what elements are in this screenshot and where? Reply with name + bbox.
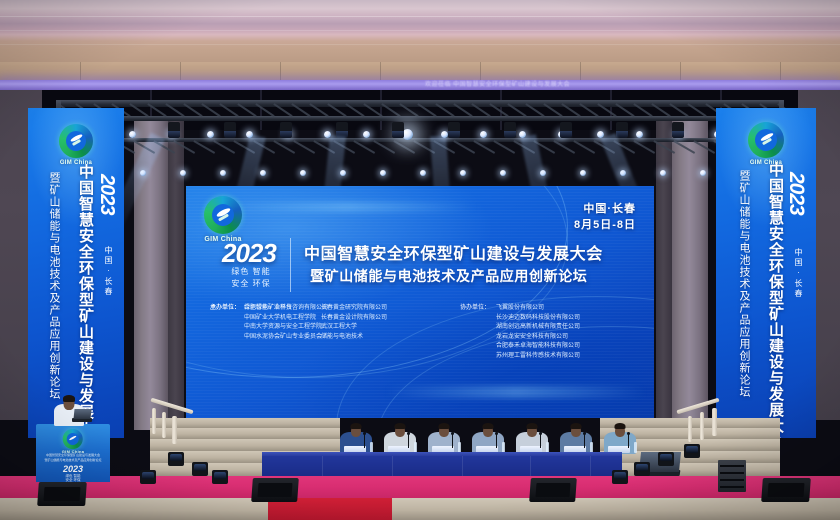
table-microphone xyxy=(628,434,629,448)
par-light xyxy=(129,131,136,138)
stage-moving-head xyxy=(140,470,156,484)
screen-dates: 8月5日-8日 xyxy=(574,216,636,232)
led-scanline xyxy=(186,408,654,409)
moving-head-lens xyxy=(448,131,460,138)
truss-diagonal xyxy=(274,140,296,153)
left-baluster-3 xyxy=(172,416,177,444)
led-scanline xyxy=(186,402,654,403)
stage-moving-head-lens xyxy=(170,454,182,461)
left-vertical-banner: GIM China 2023 中国·长春 中国智慧安全环保型矿山建设与发展大会 … xyxy=(28,108,124,438)
stage-moving-head xyxy=(192,462,208,476)
led-scanline xyxy=(186,399,654,400)
table-microphone xyxy=(540,434,541,448)
moving-head-lens xyxy=(168,131,180,138)
stage-moving-head-lens xyxy=(194,464,206,471)
moving-head-light xyxy=(224,122,236,138)
led-scanline xyxy=(186,387,654,388)
truss-diagonal xyxy=(554,140,576,153)
stage-moving-head-lens xyxy=(636,464,648,471)
screen-slogan-line1: 绿色 智能 xyxy=(220,266,282,277)
main-led-screen: GIM China 中国·长春 8月5日-8日 2023 绿色 智能 安全 环保… xyxy=(186,186,654,418)
stage-moving-head-lens xyxy=(686,446,698,453)
floor-monitor-3 xyxy=(529,478,577,502)
floor-monitor-2 xyxy=(251,478,299,502)
led-scanline xyxy=(186,294,654,295)
truss-diagonal xyxy=(294,140,316,153)
stage-moving-head-lens xyxy=(142,472,154,479)
banner-right-title-sub: 暨矿山储能与电池技术及产品应用创新论坛 xyxy=(736,170,752,398)
par-light xyxy=(300,170,306,176)
moving-head-light xyxy=(672,122,684,138)
speaker-hair xyxy=(439,423,450,429)
led-scanline xyxy=(186,375,654,376)
conference-stage-photo: 欢迎莅临 中国智慧安全环保型矿山建设与发展大会 GIM China xyxy=(0,0,840,520)
podium-logo: GIM China xyxy=(62,429,85,454)
screen-location: 中国·长春 xyxy=(583,200,636,216)
led-scanline xyxy=(186,300,654,301)
led-scanline xyxy=(186,234,654,235)
right-stage-pillar xyxy=(672,120,708,430)
microphone-head xyxy=(495,432,498,435)
screen-title-divider xyxy=(290,238,291,292)
equipment-rack xyxy=(718,460,746,492)
led-strip-text: 欢迎莅临 中国智慧安全环保型矿山建设与发展大会 xyxy=(425,80,570,90)
host-org-3: 中国水泥协会矿山专业委员会 xyxy=(244,333,322,343)
par-light xyxy=(363,131,370,138)
water-bottle xyxy=(634,442,637,453)
podium-year: 2023 xyxy=(63,464,83,474)
floor-monitor-1 xyxy=(37,482,87,506)
truss-diagonal xyxy=(574,140,596,153)
moving-head-lens xyxy=(672,131,684,138)
speaker-hair xyxy=(351,423,362,429)
led-scanline xyxy=(186,414,654,415)
screen-title-sub: 暨矿山储能与电池技术及产品应用创新论坛 xyxy=(310,266,587,286)
led-scanline xyxy=(186,390,654,391)
truss-diagonal xyxy=(474,140,496,153)
moving-head-light xyxy=(560,122,572,138)
right-baluster-1 xyxy=(712,408,717,436)
par-light xyxy=(636,131,643,138)
led-scanline xyxy=(186,393,654,394)
microphone-head xyxy=(407,432,410,435)
microphone-head xyxy=(451,432,454,435)
right-vertical-banner: GIM China 2023 中国·长春 中国智慧安全环保型矿山建设与发展大会 … xyxy=(716,108,816,438)
host-org-b-0: 长春黄金研究院有限公司 xyxy=(321,304,387,314)
stage-moving-head xyxy=(684,444,700,458)
host-org-1: 中国矿业大学机电工程学院 xyxy=(244,314,322,324)
moving-head-light xyxy=(280,122,292,138)
stage-moving-head xyxy=(612,470,628,484)
truss-diagonal xyxy=(214,140,236,153)
truss-diagonal xyxy=(634,140,656,153)
organizer-name: 合肥绿色矿冶科技咨询有限公司 xyxy=(244,304,328,314)
left-baluster-1 xyxy=(152,408,156,434)
moving-head-light xyxy=(504,122,516,138)
stage-moving-head xyxy=(634,462,650,476)
led-scanline xyxy=(186,405,654,406)
lighting-truss-lower xyxy=(92,138,748,142)
led-scanline xyxy=(186,396,654,397)
moving-head-lens xyxy=(280,131,292,138)
moving-head-light xyxy=(392,122,404,138)
par-light xyxy=(207,131,214,138)
host-org-b-1: 长春黄金设计院有限公司 xyxy=(321,314,387,324)
coorg-org-0: 飞翼股份有限公司 xyxy=(496,304,580,314)
hall-ceiling xyxy=(0,0,840,62)
led-scanline xyxy=(186,198,654,199)
podium-line-2: 暨矿山储能与电池技术及产品应用创新论坛 xyxy=(44,458,101,462)
par-light xyxy=(260,170,266,176)
banner-left-logo: GIM China xyxy=(59,124,93,166)
host-org-2: 中南大学资源与安全工程学院 xyxy=(244,323,322,333)
led-scanline xyxy=(186,192,654,193)
coorg-org-2: 湖南创远高新机械有限责任公司 xyxy=(496,323,580,333)
par-light xyxy=(380,170,386,176)
stage-moving-head xyxy=(168,452,184,466)
moving-head-light xyxy=(168,122,180,138)
moving-head-lens xyxy=(392,131,404,138)
stage-moving-head xyxy=(212,470,228,484)
par-light xyxy=(180,170,186,176)
right-baluster-3 xyxy=(688,416,692,442)
par-light xyxy=(660,170,666,176)
par-light xyxy=(580,170,586,176)
stage-moving-head-lens xyxy=(214,472,226,479)
ceiling-cornice xyxy=(0,62,840,80)
stage-moving-head-lens xyxy=(660,454,672,461)
truss-diagonal xyxy=(354,140,376,153)
led-scanline xyxy=(186,381,654,382)
truss-diagonal xyxy=(394,140,416,153)
table-microphone xyxy=(452,434,453,448)
left-pillar-shadow xyxy=(168,120,184,430)
table-microphone xyxy=(364,434,365,448)
led-scanline xyxy=(186,411,654,412)
moving-head-lens xyxy=(560,131,572,138)
host-org-b-2: 武汉工程大学 xyxy=(321,323,387,333)
podium-laptop-screen xyxy=(73,409,91,419)
table-microphone xyxy=(408,434,409,448)
right-pillar-shadow xyxy=(656,120,672,430)
truss-diagonal xyxy=(374,140,396,153)
par-light xyxy=(480,131,487,138)
screen-gim-logo: GIM China xyxy=(204,196,242,243)
truss-diagonal xyxy=(194,140,216,153)
speaker-hair xyxy=(395,423,406,429)
truss-diagonal xyxy=(454,140,476,153)
screen-sponsor-block: 主办单位： 绿色智能矿业平台中国矿业大学机电工程学院中南大学资源与安全工程学院中… xyxy=(186,304,654,374)
screen-slogan-line2: 安全 环保 xyxy=(220,278,282,289)
microphone-head xyxy=(583,432,586,435)
podium-line-1: 中国智慧安全环保型矿山建设与发展大会 xyxy=(46,453,100,457)
microphone-head xyxy=(539,432,542,435)
moving-head-lens xyxy=(504,131,516,138)
table-microphone xyxy=(584,434,585,448)
speaker-hair xyxy=(571,423,582,429)
host-column-2: 长春黄金研究院有限公司长春黄金设计院有限公司武汉工程大学储能与电池技术 xyxy=(321,304,387,342)
led-scanline xyxy=(186,384,654,385)
led-scanline xyxy=(186,195,654,196)
led-scanline xyxy=(186,186,654,187)
par-light xyxy=(500,170,506,176)
floor-monitor-4 xyxy=(761,478,811,502)
banner-left-logo-brand: GIM xyxy=(60,160,72,166)
coorganizer-label: 协办单位： xyxy=(460,304,490,314)
host-org-b-3: 储能与电池技术 xyxy=(321,333,387,343)
coorg-org-3: 龙岩龙安安全科技有限公司 xyxy=(496,333,580,343)
left-baluster-2 xyxy=(162,412,166,438)
microphone-head xyxy=(363,432,366,435)
par-light xyxy=(460,170,466,176)
par-light xyxy=(700,170,706,176)
led-scanline xyxy=(186,297,654,298)
microphone-head xyxy=(627,432,630,435)
led-scanline xyxy=(186,189,654,190)
coorg-org-1: 长沙迪迈数码科技股份有限公司 xyxy=(496,314,580,324)
moving-head-lens xyxy=(616,131,628,138)
truss-diagonal xyxy=(494,140,516,153)
banner-left-year: 2023 xyxy=(95,174,118,215)
banner-right-location: 中国·长春 xyxy=(793,248,804,299)
led-scanline xyxy=(186,291,654,292)
banner-right-title-main: 中国智慧安全环保型矿山建设与发展大会 xyxy=(765,162,786,438)
table-microphone xyxy=(496,434,497,448)
stage-moving-head-lens xyxy=(614,472,626,479)
coorganizer-column: 飞翼股份有限公司长沙迪迈数码科技股份有限公司湖南创远高新机械有限责任公司龙岩龙安… xyxy=(496,304,580,361)
banner-right-logo: GIM China xyxy=(748,122,784,166)
speaker-hair xyxy=(527,423,538,429)
screen-logo-brand: GIM xyxy=(204,236,218,243)
banner-right-year: 2023 xyxy=(784,172,808,215)
organizer-label: 承办单位： xyxy=(210,304,240,314)
speaker-hair xyxy=(615,423,626,429)
moving-head-light xyxy=(448,122,460,138)
moving-head-light xyxy=(616,122,628,138)
right-baluster-2 xyxy=(700,412,704,440)
coorg-org-4: 合肥泰禾卓海智能科技有限公司 xyxy=(496,342,580,352)
banner-left-title-sub: 暨矿山储能与电池技术及产品应用创新论坛 xyxy=(46,172,62,400)
moving-head-lens xyxy=(224,131,236,138)
speaker-podium: GIM China 中国智慧安全环保型矿山建设与发展大会 暨矿山储能与电池技术及… xyxy=(36,424,110,482)
par-light xyxy=(220,170,226,176)
stage-moving-head xyxy=(658,452,674,466)
speaker-hair xyxy=(483,423,494,429)
ceiling-led-strip xyxy=(0,80,840,90)
banner-right-logo-brand: GIM xyxy=(750,160,762,166)
screen-title-main: 中国智慧安全环保型矿山建设与发展大会 xyxy=(304,240,603,264)
banner-left-location: 中国·长春 xyxy=(103,246,114,297)
led-scanline xyxy=(186,378,654,379)
par-light xyxy=(420,170,426,176)
screen-year: 2023 xyxy=(222,238,276,269)
coorg-org-5: 苏州理工雷科传感技术有限公司 xyxy=(496,352,580,362)
